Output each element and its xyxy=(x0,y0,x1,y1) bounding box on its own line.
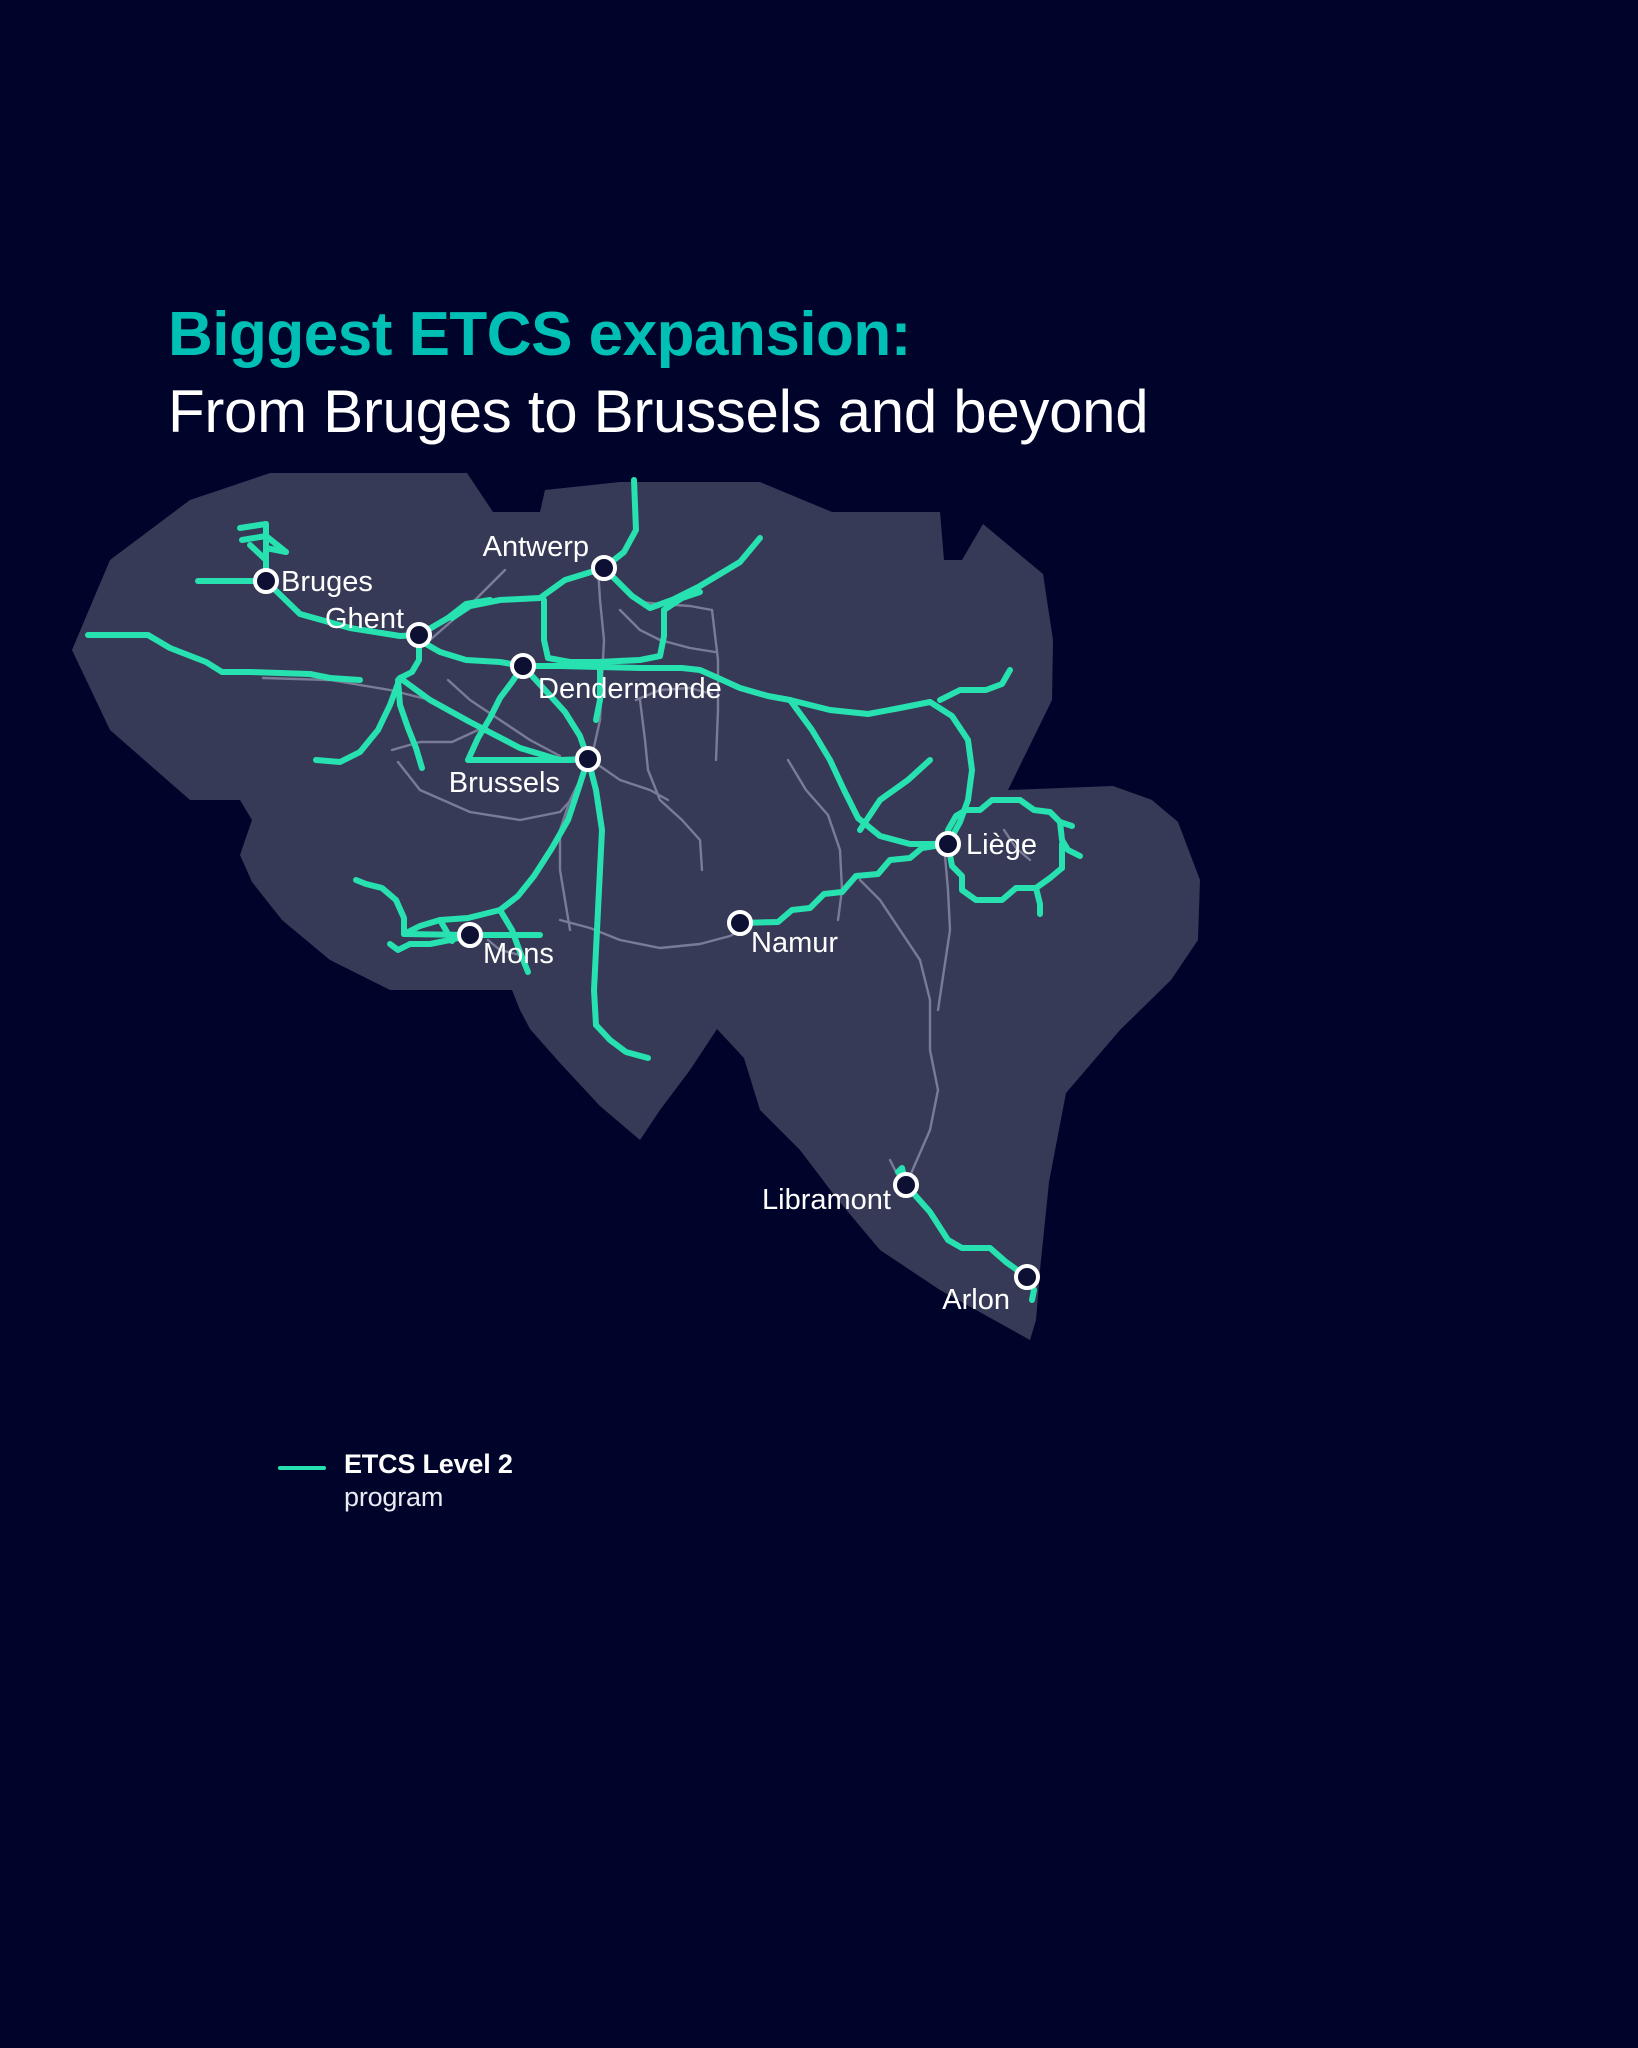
city-marker-arlon[interactable] xyxy=(1016,1266,1038,1288)
city-label-namur: Namur xyxy=(751,927,838,959)
title-line-secondary: From Bruges to Brussels and beyond xyxy=(168,377,1468,447)
page-title: Biggest ETCS expansion: From Bruges to B… xyxy=(168,300,1468,447)
map-legend: ETCS Level 2 program xyxy=(278,1448,513,1514)
city-label-brussels: Brussels xyxy=(449,767,560,799)
city-label-arlon: Arlon xyxy=(942,1284,1010,1316)
city-marker-dendermonde[interactable] xyxy=(512,655,534,677)
title-line-primary: Biggest ETCS expansion: xyxy=(168,300,1468,369)
city-label-ghent: Ghent xyxy=(325,603,404,635)
background-rail-lines xyxy=(263,568,1030,1185)
city-marker-mons[interactable] xyxy=(459,924,481,946)
legend-title: ETCS Level 2 xyxy=(344,1448,513,1481)
city-marker-brussels[interactable] xyxy=(577,748,599,770)
city-label-bruges: Bruges xyxy=(281,566,373,598)
city-label-liege: Liège xyxy=(966,829,1037,861)
map-landmass xyxy=(72,473,1200,1340)
city-label-antwerp: Antwerp xyxy=(483,531,589,563)
legend-text-block: ETCS Level 2 program xyxy=(344,1448,513,1514)
city-label-dendermonde: Dendermonde xyxy=(538,673,722,705)
city-markers xyxy=(255,557,1038,1288)
city-marker-ghent[interactable] xyxy=(408,624,430,646)
city-marker-libramont[interactable] xyxy=(895,1174,917,1196)
legend-line-swatch xyxy=(278,1466,326,1470)
city-label-libramont: Libramont xyxy=(762,1184,891,1216)
city-marker-namur[interactable] xyxy=(729,912,751,934)
city-marker-bruges[interactable] xyxy=(255,570,277,592)
city-marker-antwerp[interactable] xyxy=(593,557,615,579)
city-marker-liege[interactable] xyxy=(937,833,959,855)
legend-subtitle: program xyxy=(344,1481,513,1514)
city-labels: Bruges Antwerp Ghent Dendermonde Brussel… xyxy=(281,531,1037,1316)
etcs-level2-network xyxy=(88,480,1080,1300)
city-label-mons: Mons xyxy=(483,938,554,970)
